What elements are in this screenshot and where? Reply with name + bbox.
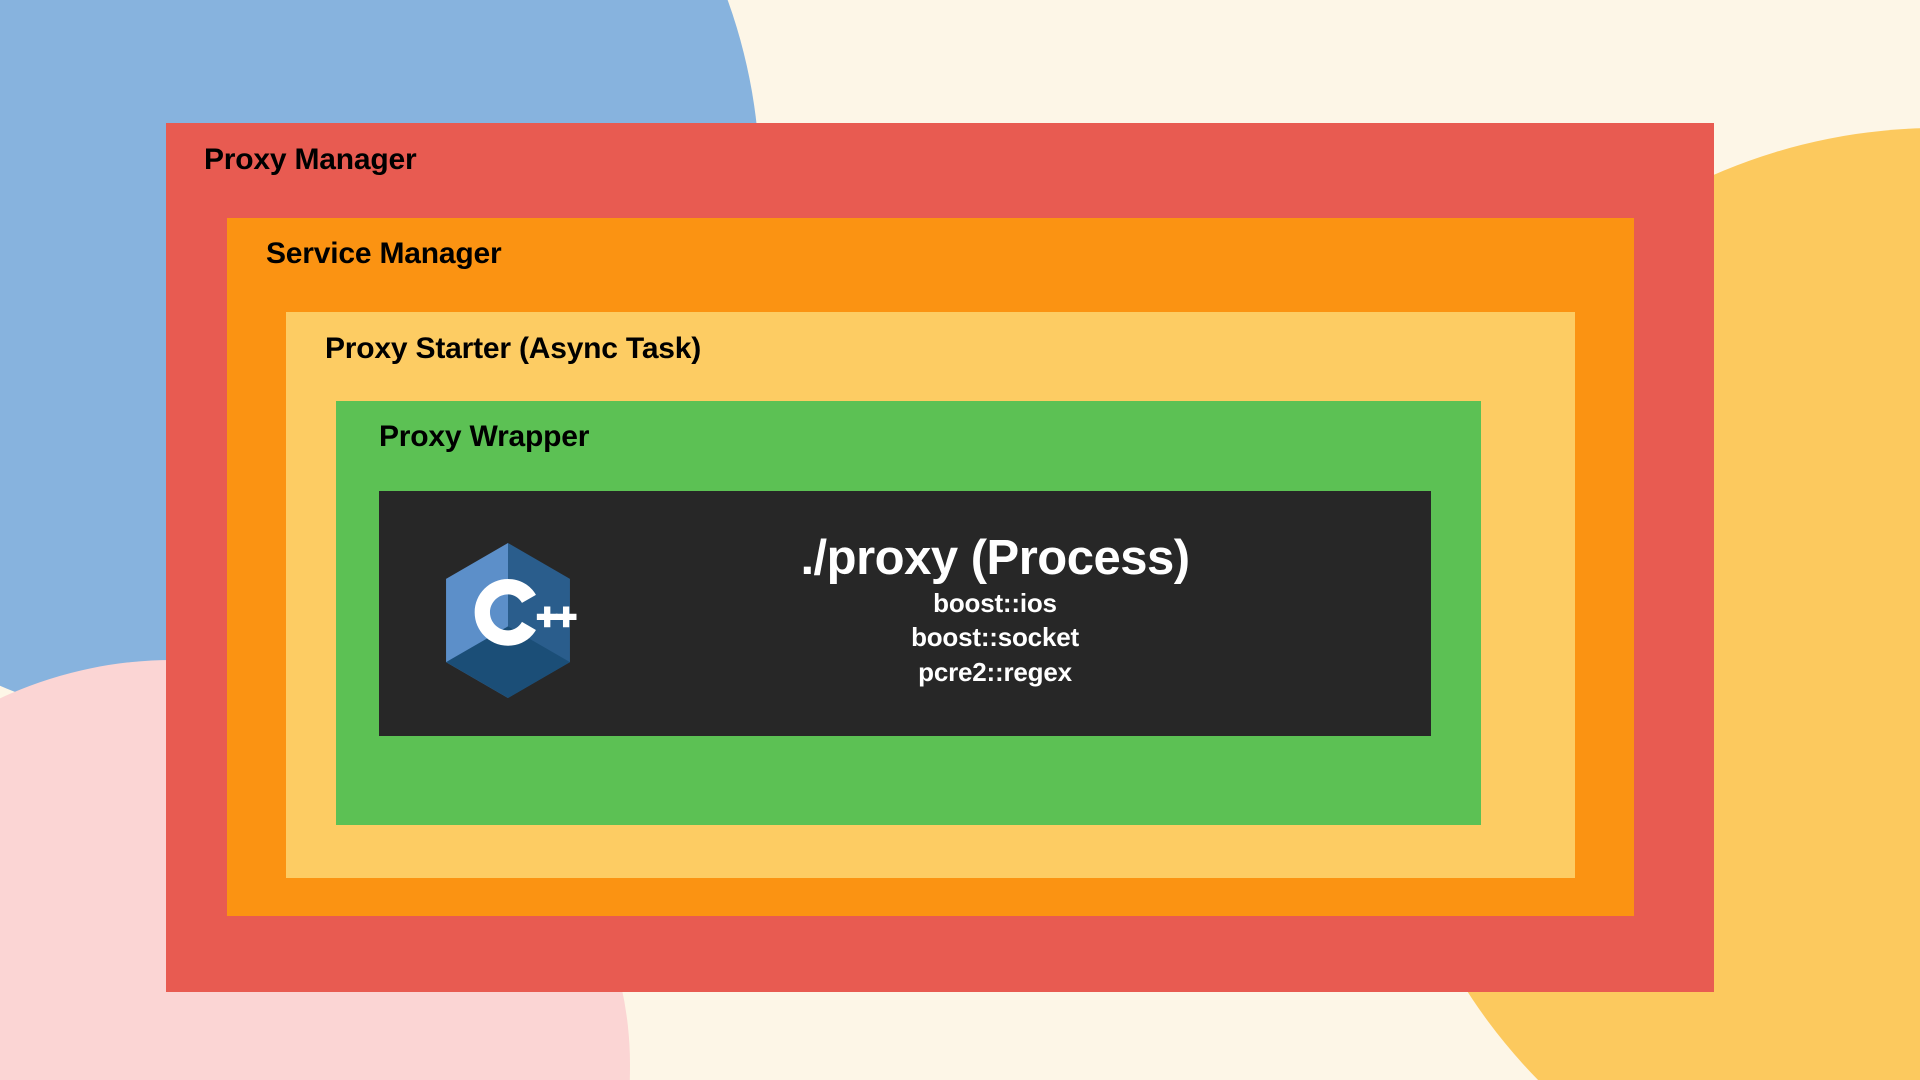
layer-proxy-starter: Proxy Starter (Async Task) Proxy Wrapper xyxy=(286,312,1575,878)
library-item: boost::socket xyxy=(559,620,1431,655)
process-name-label: ./proxy (Process) xyxy=(559,531,1431,586)
process-text-block: ./proxy (Process) boost::ios boost::sock… xyxy=(559,531,1431,690)
diagram-canvas: Proxy Manager Service Manager Proxy Star… xyxy=(0,0,1920,1080)
layer-service-manager-label: Service Manager xyxy=(266,237,501,271)
library-item: pcre2::regex xyxy=(559,655,1431,690)
library-item: boost::ios xyxy=(559,586,1431,621)
layer-service-manager: Service Manager Proxy Starter (Async Tas… xyxy=(227,218,1634,916)
layer-proxy-manager-label: Proxy Manager xyxy=(204,143,416,177)
process-box-inner: ./proxy (Process) boost::ios boost::sock… xyxy=(379,491,1431,736)
layer-proxy-starter-label: Proxy Starter (Async Task) xyxy=(325,332,701,366)
process-box: ./proxy (Process) boost::ios boost::sock… xyxy=(379,491,1431,736)
layer-proxy-wrapper-label: Proxy Wrapper xyxy=(379,420,589,454)
layer-proxy-manager: Proxy Manager Service Manager Proxy Star… xyxy=(166,123,1714,992)
cpp-logo-icon xyxy=(438,543,578,698)
layer-proxy-wrapper: Proxy Wrapper xyxy=(336,401,1481,825)
